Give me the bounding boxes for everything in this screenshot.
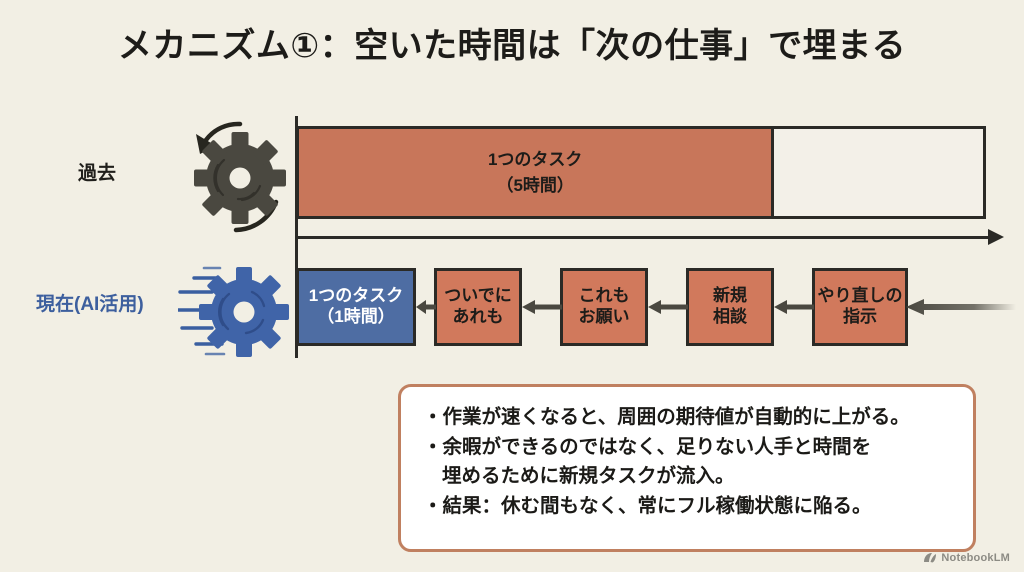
- task-box-line2: お願い: [579, 307, 630, 328]
- task-box-shinki: 新規 相談: [686, 268, 774, 346]
- task-box-koremo: これも お願い: [560, 268, 648, 346]
- gear-icon-blue: [178, 258, 298, 370]
- task-box-line1: これも: [579, 286, 630, 307]
- task-box-line2: 指示: [843, 307, 877, 328]
- axis-arrow-icon: [988, 229, 1004, 245]
- page-title: メカニズム①：空いた時間は「次の仕事」で埋まる: [0, 18, 1024, 67]
- callout-line-4: ・結果：休む間もなく、常にフル稼働状態に陥る。: [423, 492, 951, 522]
- task-box-line1: やり直しの: [818, 286, 903, 307]
- task-box-line1: 新規: [713, 286, 747, 307]
- task-box-line2: あれも: [453, 307, 504, 328]
- callout-line-2: ・余暇ができるのではなく、足りない人手と時間を: [423, 433, 951, 463]
- notebooklm-watermark: NotebookLM: [923, 552, 1010, 564]
- past-task-bar-fill: 1つのタスク （5時間）: [299, 129, 774, 216]
- summary-callout-box: ・作業が速くなると、周囲の期待値が自動的に上がる。 ・余暇ができるのではなく、足…: [398, 384, 976, 552]
- flow-arrow-left-icon: [522, 299, 562, 315]
- row-label-now: 現在(AI活用): [36, 289, 144, 316]
- task-box-line2: 相談: [713, 307, 747, 328]
- past-bar-label-line1: 1つのタスク: [488, 149, 582, 170]
- task-box-tsuide: ついでに あれも: [434, 268, 522, 346]
- task-box-main-task: 1つのタスク （1時間）: [296, 268, 416, 346]
- watermark-label: NotebookLM: [941, 552, 1010, 564]
- past-task-bar: 1つのタスク （5時間）: [296, 126, 986, 219]
- callout-line-1: ・作業が速くなると、周囲の期待値が自動的に上がる。: [423, 403, 951, 433]
- task-box-yarinaoshi: やり直しの 指示: [812, 268, 908, 346]
- slide-canvas: メカニズム①：空いた時間は「次の仕事」で埋まる 過去: [0, 0, 1024, 572]
- flow-arrow-left-icon: [648, 299, 688, 315]
- task-box-line1: ついでに: [444, 286, 512, 307]
- flow-arrow-left-icon: [774, 299, 814, 315]
- row-label-past: 過去: [78, 158, 116, 185]
- flow-arrow-inflow-icon: [906, 299, 1016, 315]
- axis-horizontal-line: [295, 236, 995, 239]
- notebooklm-icon: [923, 552, 937, 564]
- past-bar-label-line2: （5時間）: [496, 175, 573, 196]
- callout-line-3: 埋めるために新規タスクが流入。: [423, 462, 951, 492]
- flow-arrow-left-icon: [416, 299, 436, 315]
- gear-icon-dark: [178, 118, 298, 236]
- task-box-line1: 1つのタスク: [309, 286, 403, 307]
- task-box-line2: （1時間）: [317, 307, 394, 328]
